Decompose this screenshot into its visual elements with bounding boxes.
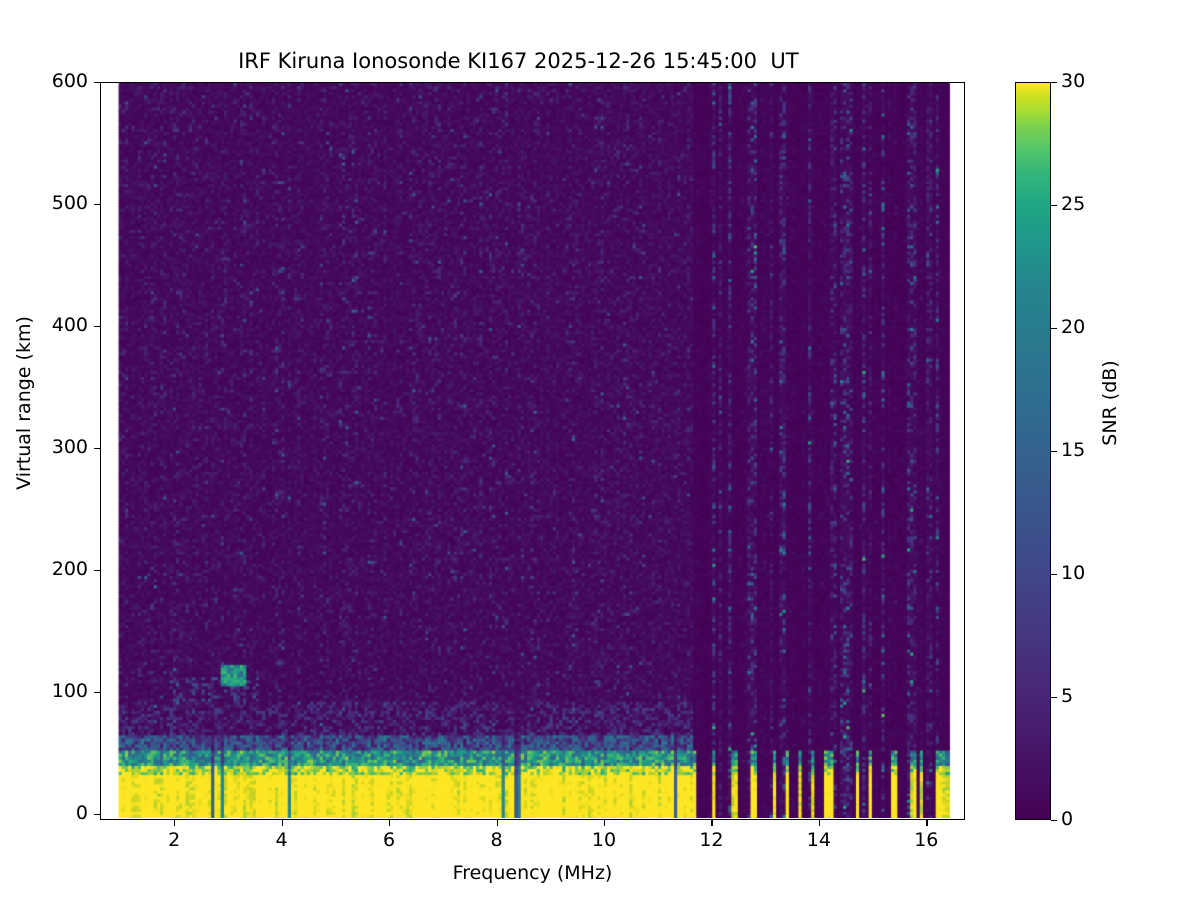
x-tick <box>604 820 605 826</box>
colorbar-tick-label: 15 <box>1061 439 1085 461</box>
y-axis-label: Virtual range (km) <box>13 293 35 513</box>
colorbar-tick <box>1051 328 1057 329</box>
x-tick <box>497 820 498 826</box>
colorbar-tick-label: 20 <box>1061 316 1085 338</box>
x-tick-label: 14 <box>789 829 849 851</box>
colorbar-tick <box>1051 574 1057 575</box>
colorbar-tick <box>1051 697 1057 698</box>
ionogram-plot-area <box>100 82 965 820</box>
title-line-1: IRF Kiruna Ionosonde KI167 2025-12-26 15… <box>238 49 798 73</box>
y-tick <box>94 448 100 449</box>
x-tick-label: 12 <box>681 829 741 851</box>
y-tick <box>94 326 100 327</box>
x-tick-label: 2 <box>144 829 204 851</box>
x-tick-label: 8 <box>467 829 527 851</box>
colorbar-tick-label: 5 <box>1061 685 1073 707</box>
x-tick <box>389 820 390 826</box>
x-axis-label: Frequency (MHz) <box>100 862 965 884</box>
colorbar-tick <box>1051 205 1057 206</box>
colorbar-tick <box>1051 820 1057 821</box>
x-tick-label: 6 <box>359 829 419 851</box>
x-tick-label: 10 <box>574 829 634 851</box>
x-tick <box>282 820 283 826</box>
colorbar-tick-label: 30 <box>1061 70 1085 92</box>
y-tick-label: 300 <box>32 436 88 458</box>
x-tick <box>819 820 820 826</box>
colorbar-tick-label: 25 <box>1061 193 1085 215</box>
y-tick <box>94 570 100 571</box>
x-tick <box>711 820 712 826</box>
x-tick <box>926 820 927 826</box>
colorbar-tick-label: 0 <box>1061 808 1073 830</box>
colorbar-label: SNR (dB) <box>1099 293 1121 513</box>
y-tick-label: 100 <box>32 680 88 702</box>
x-tick-label: 16 <box>896 829 956 851</box>
y-tick <box>94 814 100 815</box>
y-tick-label: 0 <box>32 802 88 824</box>
ionogram-figure: IRF Kiruna Ionosonde KI167 2025-12-26 15… <box>0 0 1200 900</box>
y-tick-label: 400 <box>32 314 88 336</box>
y-tick-label: 500 <box>32 192 88 214</box>
colorbar-tick <box>1051 82 1057 83</box>
ionogram-heatmap <box>101 83 963 818</box>
colorbar-tick-label: 10 <box>1061 562 1085 584</box>
y-tick <box>94 82 100 83</box>
y-tick <box>94 692 100 693</box>
y-tick-label: 200 <box>32 558 88 580</box>
colorbar <box>1015 82 1051 820</box>
x-tick-label: 4 <box>252 829 312 851</box>
x-tick <box>174 820 175 826</box>
colorbar-tick <box>1051 451 1057 452</box>
y-tick-label: 600 <box>32 70 88 92</box>
y-tick <box>94 204 100 205</box>
